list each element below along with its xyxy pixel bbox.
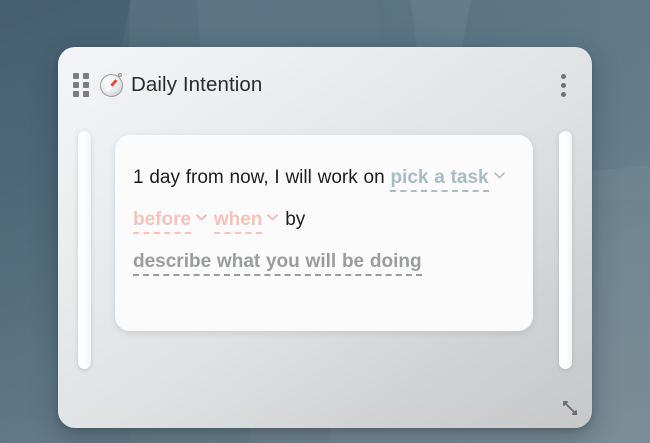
right-grip-handle[interactable]: [559, 131, 572, 369]
kebab-menu-icon[interactable]: [552, 70, 574, 100]
widget-title-bar[interactable]: Daily Intention: [58, 47, 592, 123]
sentence-lead-text: 1 day from now, I will work on: [133, 167, 385, 188]
chevron-down-icon[interactable]: [196, 214, 207, 221]
compass-icon: [99, 73, 124, 98]
intention-content-panel: 1 day from now, I will work on pick a ta…: [115, 135, 533, 331]
task-slot-dropdown[interactable]: pick a task: [390, 157, 505, 199]
drag-handle-icon[interactable]: [72, 72, 90, 98]
before-slot-dropdown[interactable]: before: [133, 199, 208, 241]
daily-intention-widget[interactable]: Daily Intention 1 day from now, I will w…: [58, 47, 592, 428]
chevron-down-icon[interactable]: [494, 172, 505, 179]
task-slot-label[interactable]: pick a task: [390, 167, 488, 192]
intention-sentence: 1 day from now, I will work on pick a ta…: [133, 157, 513, 283]
when-slot-dropdown[interactable]: when: [214, 199, 280, 241]
widget-title: Daily Intention: [131, 73, 262, 97]
when-slot-label[interactable]: when: [214, 209, 263, 234]
sentence-connector-text: by: [285, 209, 305, 230]
resize-handle-icon[interactable]: [558, 396, 584, 422]
description-slot-input[interactable]: describe what you will be doing: [133, 251, 422, 276]
before-slot-label[interactable]: before: [133, 209, 191, 234]
left-grip-handle[interactable]: [78, 131, 91, 369]
chevron-down-icon[interactable]: [267, 214, 278, 221]
